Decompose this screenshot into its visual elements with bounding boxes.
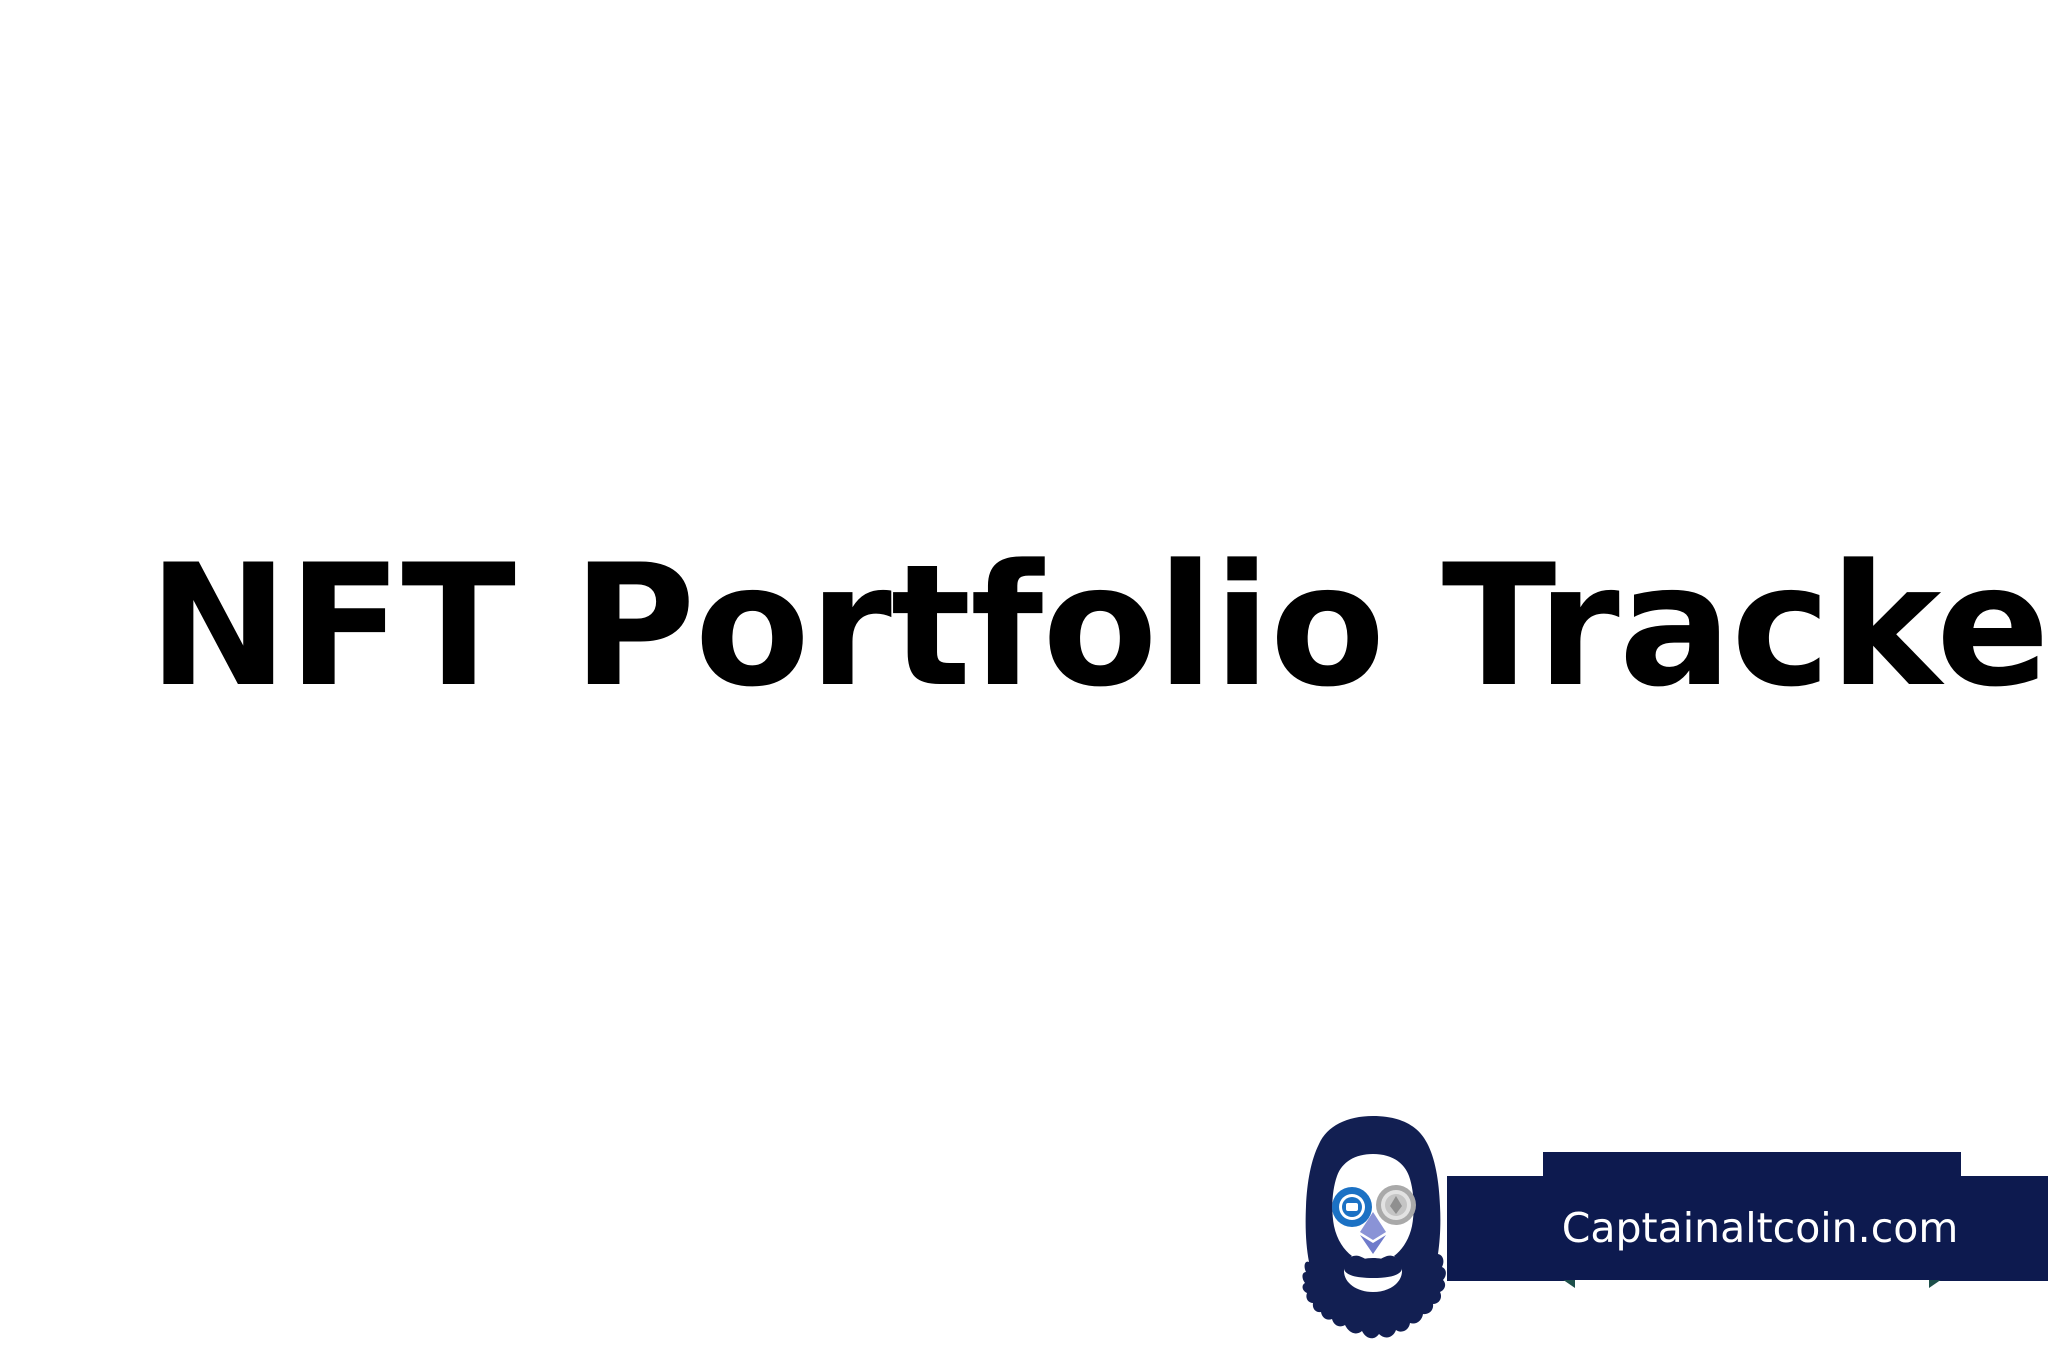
title-block: NFT Portfolio Tracker	[148, 536, 1908, 716]
mascot-avatar-icon	[1297, 1110, 1449, 1342]
page-title: NFT Portfolio Tracker	[148, 542, 2048, 710]
ribbon-banner	[1447, 1148, 2048, 1303]
slide-canvas: NFT Portfolio Tracker	[0, 0, 2048, 1365]
brand-logo: Captainaltcoin.com	[1297, 1098, 2048, 1348]
right-eye-coin-icon	[1376, 1185, 1416, 1225]
left-eye-coin-icon	[1332, 1187, 1372, 1227]
